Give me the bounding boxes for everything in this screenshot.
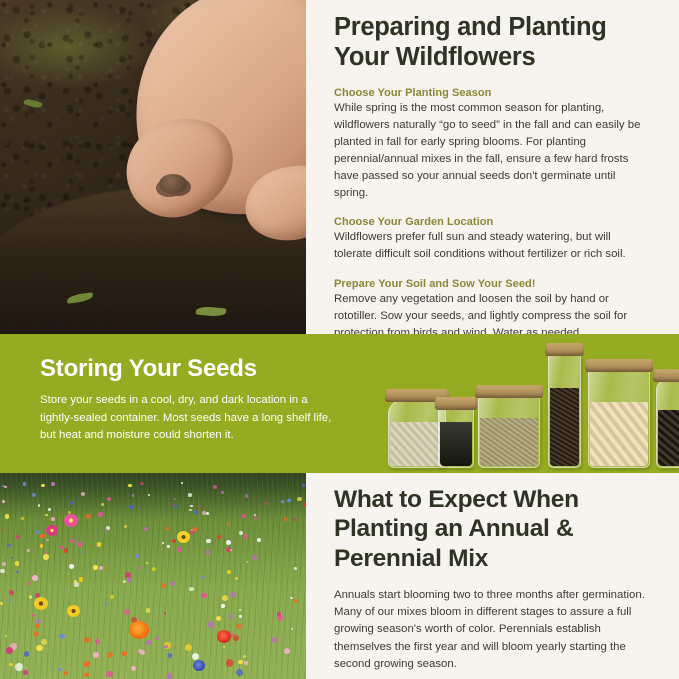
flower-dot [227,570,231,574]
cork-lid-icon [545,343,584,356]
flower-dot [110,595,114,599]
flower-dot [206,539,211,544]
flower-dot [5,514,9,518]
flower-dot [58,668,61,671]
flower-dot [24,651,29,656]
flower-dot [294,567,297,570]
flower-dot [27,549,29,551]
page-title: Preparing and Planting Your Wildflowers [334,12,651,72]
jar-contents [590,402,648,466]
flower-dot [21,517,24,520]
flower-dot [64,671,68,675]
flower-dot [190,505,193,508]
section-preparing-and-planting: Preparing and Planting Your Wildflowers … [0,0,679,334]
section-what-to-expect: What to Expect When Planting an Annual &… [0,473,679,679]
flower-dot [36,645,42,651]
flower-dot [254,516,257,519]
flower-dot [124,609,130,615]
flower-dot [185,644,192,651]
flower-dot [230,549,232,551]
flower-dot [9,599,12,602]
section-title-what-to-expect: What to Expect When Planting an Annual &… [334,485,651,573]
flower-dot [46,539,49,542]
flower-dot [9,663,12,666]
poppy-orange [129,621,149,639]
flower-dot [193,527,197,531]
flower-dot [243,655,246,658]
text-column-green: Storing Your Seeds Store your seeds in a… [40,356,340,444]
flower-dot [202,511,206,515]
text-column-top: Preparing and Planting Your Wildflowers … [306,0,679,334]
flower-dot [146,608,150,612]
seed-jar [478,396,540,468]
flower-dot [230,592,236,598]
text-column-bottom: What to Expect When Planting an Annual &… [306,473,679,679]
flower-dot [107,652,113,658]
flower-dot [221,604,225,608]
flower-dot [16,535,20,539]
body-planting-season: While spring is the most common season f… [334,100,651,201]
jar-contents [390,422,444,466]
flower-dot [239,531,243,535]
flower-dot [146,562,148,564]
flower-dot [164,645,167,648]
flower-dot [95,639,99,643]
flower-dot [202,576,204,578]
flower-dot [48,508,51,511]
flower-dot [189,509,191,511]
subheading-garden-location: Choose Your Garden Location [334,216,651,228]
flower-dot [222,595,228,601]
cork-lid-icon [475,385,543,398]
seeds-in-hand [159,174,187,194]
flower-dot [243,534,248,539]
flower-dot [293,518,296,521]
body-storing: Store your seeds in a cool, dry, and dar… [40,392,340,443]
flower-dot [294,599,298,603]
flower-dot [244,661,247,664]
daisy-yellow [34,597,48,610]
flower-dot [106,671,113,678]
jar-contents [480,418,538,466]
flower-dot [233,635,239,641]
seed-jar [656,380,679,468]
flower-dot [4,486,7,489]
flower-dot [101,503,104,506]
body-what-to-expect: Annuals start blooming two to three mont… [334,587,651,673]
flower-dot [79,577,83,581]
flower-dot [28,582,31,585]
flower-dot [170,581,175,586]
flower-dot [189,587,193,591]
flower-dot [70,539,75,544]
flower-dot [252,555,257,560]
subheading-prepare-soil: Prepare Your Soil and Sow Your Seed! [334,278,651,290]
cosmos-pink [46,525,58,536]
cork-lid-icon [585,359,653,372]
seed-jar [548,354,581,468]
flower-dot [7,544,10,547]
subheading-planting-season: Choose Your Planting Season [334,87,651,99]
flower-dot [15,561,20,566]
flower-dot [84,661,90,667]
flower-dot [129,505,133,509]
flower-dot [281,500,284,503]
section-title-storing: Storing Your Seeds [40,356,340,382]
flower-dot [236,669,243,676]
flower-dot [98,512,103,517]
cork-lid-icon [435,397,477,410]
flower-dot [167,673,173,679]
flower-dot [23,670,28,675]
flower-dot [217,535,221,539]
poppy-red [217,630,231,643]
flower-dot [245,494,248,497]
flower-dot [168,653,173,658]
flower-dot [166,527,169,530]
flower-dot [138,649,142,653]
photo-hands-sowing-seeds [0,0,306,334]
flower-dot [155,636,159,640]
flower-dot [135,554,139,558]
flower-dot [51,517,55,521]
flower-dot [51,482,55,486]
photo-wildflower-meadow [0,473,306,679]
flower-dot [167,545,170,548]
body-garden-location: Wildflowers prefer full sun and steady w… [334,229,651,263]
flower-dot [106,603,108,605]
seed-jar [438,408,474,468]
flower-dot [86,514,91,519]
flower-dot [140,482,143,485]
cork-lid-icon [653,369,679,382]
flower-dot [69,501,73,505]
flower-dot [208,621,214,627]
flower-dot [124,525,127,528]
flower-dot [128,484,131,487]
flower-dot [297,497,301,501]
flower-dot [0,569,5,574]
flower-dot [132,494,134,496]
jar-contents [440,422,472,466]
flower-dot [36,530,40,534]
flower-dot [161,583,166,588]
flower-dot [6,647,13,654]
flower-dot [226,659,233,666]
flower-dot [235,577,238,580]
flower-dot [0,602,2,604]
flower-dot [93,652,99,658]
flower-dot [236,624,241,629]
flower-dot [201,593,206,598]
flower-dot [227,523,229,525]
flower-dot [35,624,39,628]
jar-contents [550,388,579,466]
flower-dot [5,635,7,637]
jar-contents [658,410,679,466]
meadow-grass-texture [0,473,306,679]
flower-dot [77,542,82,547]
flower-dot [60,546,64,550]
flower-dot [41,639,47,645]
flower-dot [144,527,148,531]
flower-dot [174,505,177,508]
flower-dot [41,484,45,488]
flower-dot [84,673,89,678]
flower-dot [290,597,293,600]
flower-dot [93,565,98,570]
flower-dot [40,534,45,539]
flower-dot [15,663,23,671]
flower-dot [43,554,48,559]
infographic-page: Preparing and Planting Your Wildflowers … [0,0,679,679]
photo-seed-jars [388,342,668,468]
flower-dot [32,575,38,581]
seed-jar [588,370,650,468]
section-storing-your-seeds: Storing Your Seeds Store your seeds in a… [0,334,679,473]
flower-dot [287,499,291,503]
flower-dot [23,482,26,485]
flower-dot [131,666,136,671]
flower-dot [284,648,290,654]
flower-dot [74,582,78,586]
